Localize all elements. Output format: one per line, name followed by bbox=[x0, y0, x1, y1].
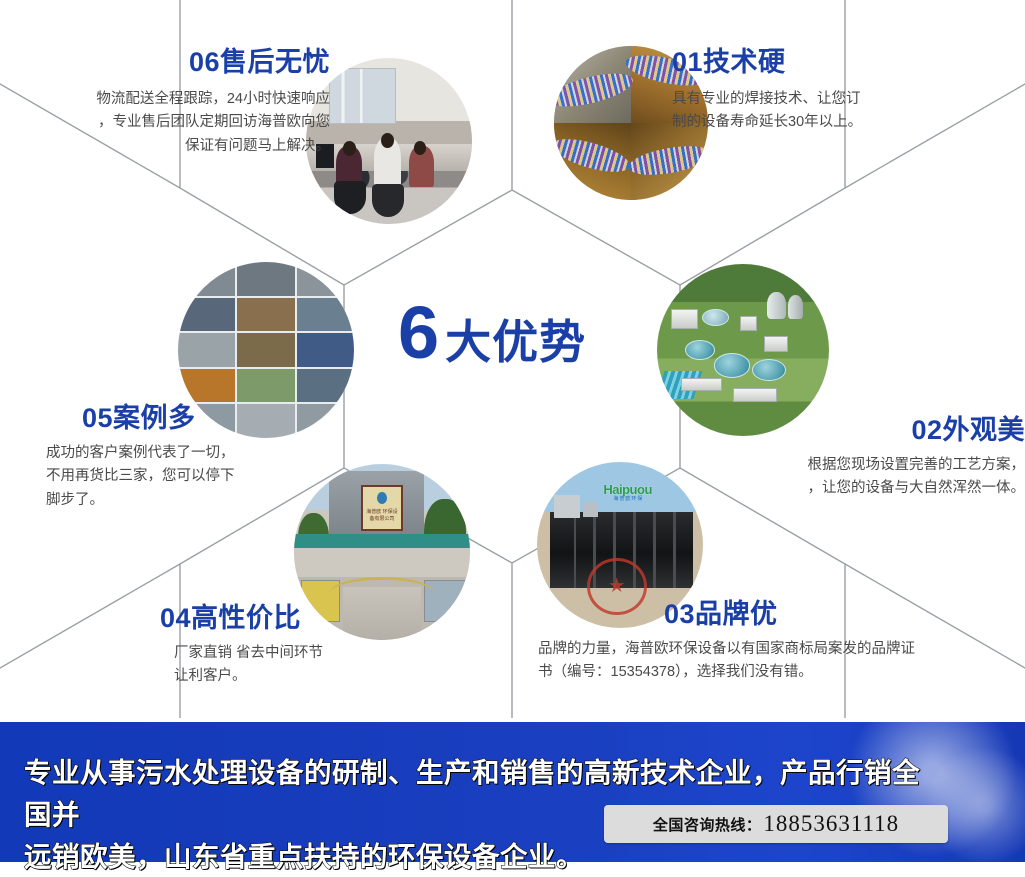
advantage-01-desc: 具有专业的焊接技术、让您订 制的设备寿命延长30年以上。 bbox=[672, 88, 1002, 135]
advantage-05: 05案例多 成功的客户案例代表了一切， 不用再货比三家，您可以停下 脚步了。 bbox=[38, 404, 338, 512]
advantage-02-title: 02外观美 bbox=[690, 416, 1025, 446]
hotline-number: 18853631118 bbox=[763, 811, 899, 837]
advantage-01: 01技术硬 具有专业的焊接技术、让您订 制的设备寿命延长30年以上。 bbox=[672, 48, 1002, 135]
center-text: 大优势 bbox=[445, 319, 586, 365]
center-label: 6 大优势 bbox=[398, 296, 586, 370]
advantage-03: 03品牌优 品牌的力量，海普欧环保设备以有国家商标局案发的品牌证 书（编号：15… bbox=[538, 600, 1025, 685]
haipuou-brand-subtitle: 海普欧环保 bbox=[613, 495, 643, 502]
advantage-04-desc: 厂家直销 省去中间环节 让利客户。 bbox=[174, 642, 480, 689]
advantage-02: 02外观美 根据您现场设置完善的工艺方案， ，让您的设备与大自然浑然一体。 bbox=[690, 416, 1025, 501]
hotline-label: 全国咨询热线： bbox=[653, 814, 762, 835]
advantage-06-desc: 物流配送全程跟踪，24小时快速响应 ，专业售后团队定期回访海普欧向您 保证有问题… bbox=[8, 88, 330, 158]
advantage-06-title: 06售后无忧 bbox=[8, 48, 330, 78]
advantage-04-title: 04高性价比 bbox=[160, 604, 480, 634]
office-team-photo bbox=[306, 58, 472, 224]
advantage-03-desc: 品牌的力量，海普欧环保设备以有国家商标局案发的品牌证 书（编号：15354378… bbox=[538, 638, 1025, 685]
advantage-05-desc: 成功的客户案例代表了一切， 不用再货比三家，您可以停下 脚步了。 bbox=[46, 442, 338, 512]
advantage-04: 04高性价比 厂家直销 省去中间环节 让利客户。 bbox=[160, 604, 480, 689]
advantage-05-title: 05案例多 bbox=[82, 404, 338, 434]
gate-sign-text: 海普欧 环保设备有限公司 bbox=[364, 508, 399, 522]
hotline-box[interactable]: 全国咨询热线： 18853631118 bbox=[604, 805, 948, 843]
center-number: 6 bbox=[398, 296, 437, 370]
seal-star-icon: ★ bbox=[608, 576, 626, 596]
advantage-01-title: 01技术硬 bbox=[672, 48, 1002, 78]
outer-left-out2 bbox=[0, 564, 180, 668]
advantage-02-desc: 根据您现场设置完善的工艺方案， ，让您的设备与大自然浑然一体。 bbox=[690, 454, 1025, 501]
advantage-06: 06售后无忧 物流配送全程跟踪，24小时快速响应 ，专业售后团队定期回访海普欧向… bbox=[8, 48, 330, 158]
aerial-plant-photo bbox=[657, 264, 829, 436]
infographic-root: 06售后无忧 物流配送全程跟踪，24小时快速响应 ，专业售后团队定期回访海普欧向… bbox=[0, 0, 1025, 862]
advantage-03-title: 03品牌优 bbox=[664, 600, 1025, 630]
